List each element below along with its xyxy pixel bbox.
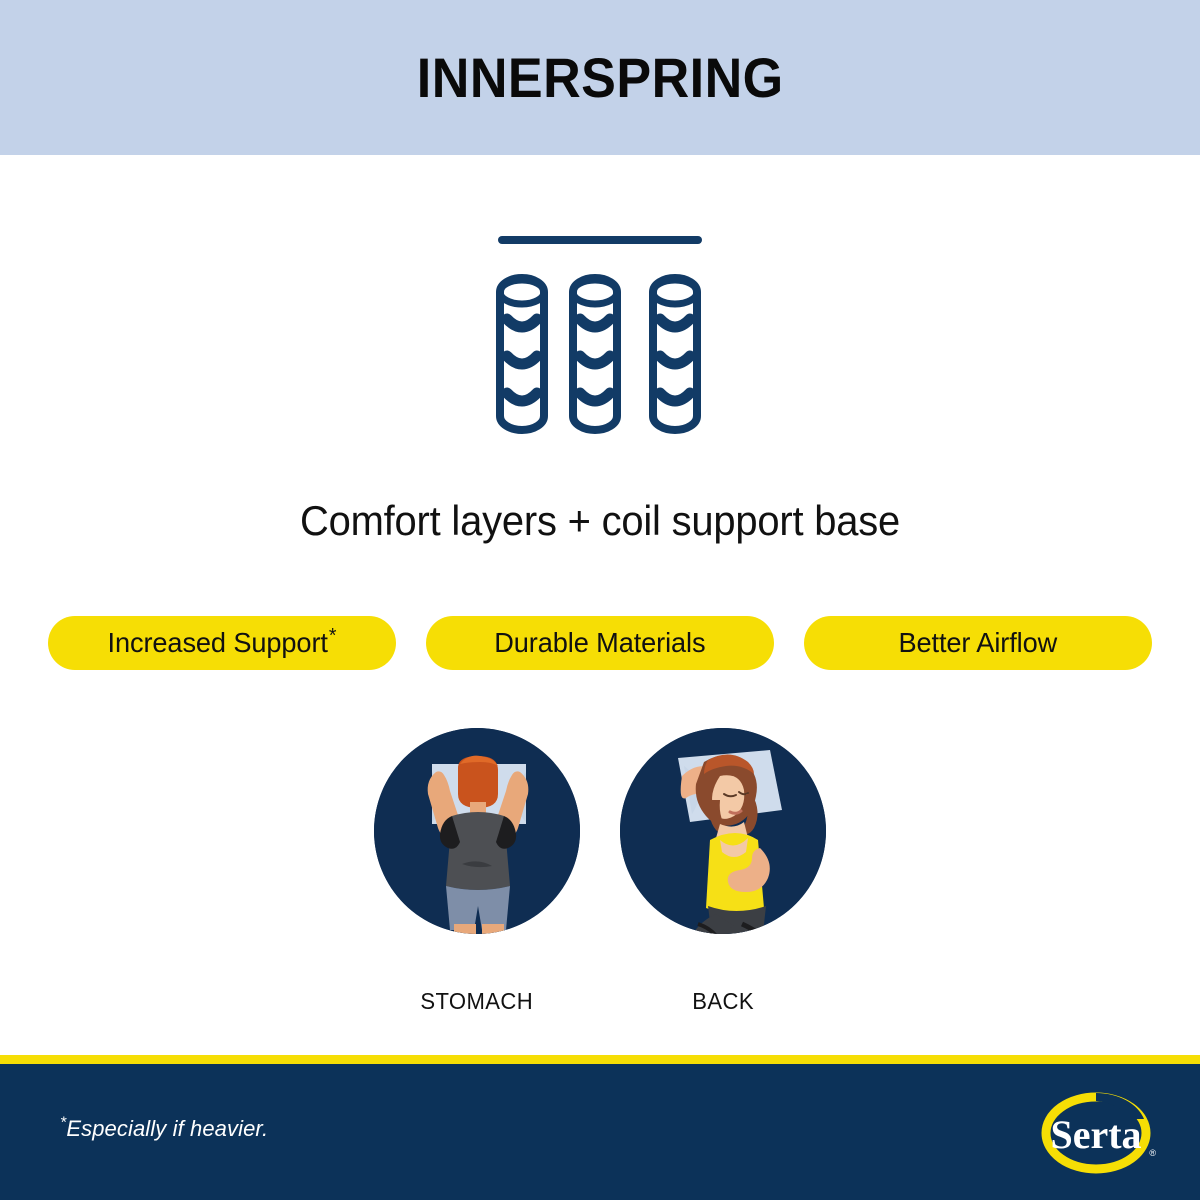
coil-1-icon — [500, 278, 544, 430]
benefit-pill-row: Increased Support* Durable Materials Bet… — [48, 616, 1152, 670]
stomach-sleeper-illustration — [374, 728, 580, 934]
footnote-marker: * — [329, 625, 336, 647]
sleep-position-label: BACK — [692, 988, 754, 1015]
page-title: INNERSPRING — [417, 50, 784, 106]
serta-logo[interactable]: Serta — [1038, 1088, 1154, 1178]
stomach-sleeper-circle — [374, 728, 580, 934]
sleep-position-stomach[interactable]: STOMACH — [374, 728, 580, 1015]
registered-mark: ® — [1149, 1148, 1156, 1158]
infographic-page: INNERSPRING — [0, 0, 1200, 1200]
back-sleeper-illustration — [620, 728, 826, 934]
page-header: INNERSPRING — [0, 0, 1200, 155]
benefit-pill-durable-materials[interactable]: Durable Materials — [426, 616, 774, 670]
serta-wordmark: Serta — [1050, 1112, 1141, 1157]
footer-accent-bar — [0, 1055, 1200, 1064]
coil-3-icon — [653, 278, 697, 430]
subtitle: Comfort layers + coil support base — [30, 498, 1170, 544]
coil-2-icon — [573, 278, 617, 430]
sleep-position-row: STOMACH — [0, 728, 1200, 1015]
footnote: *Especially if heavier. — [60, 1116, 268, 1142]
benefit-pill-label: Increased Support — [108, 627, 328, 658]
back-sleeper-circle — [620, 728, 826, 934]
coil-icon-container — [0, 228, 1200, 443]
benefit-pill-label: Durable Materials — [494, 627, 705, 658]
coil-stack-icon — [490, 228, 710, 443]
sleep-position-back[interactable]: BACK — [620, 728, 826, 1015]
benefit-pill-increased-support[interactable]: Increased Support* — [48, 616, 396, 670]
coil-top-bar-icon — [498, 236, 702, 244]
footnote-text: Especially if heavier. — [66, 1116, 268, 1141]
sleep-position-label: STOMACH — [421, 988, 534, 1015]
benefit-pill-better-airflow[interactable]: Better Airflow — [804, 616, 1152, 670]
benefit-pill-label: Better Airflow — [898, 627, 1057, 658]
